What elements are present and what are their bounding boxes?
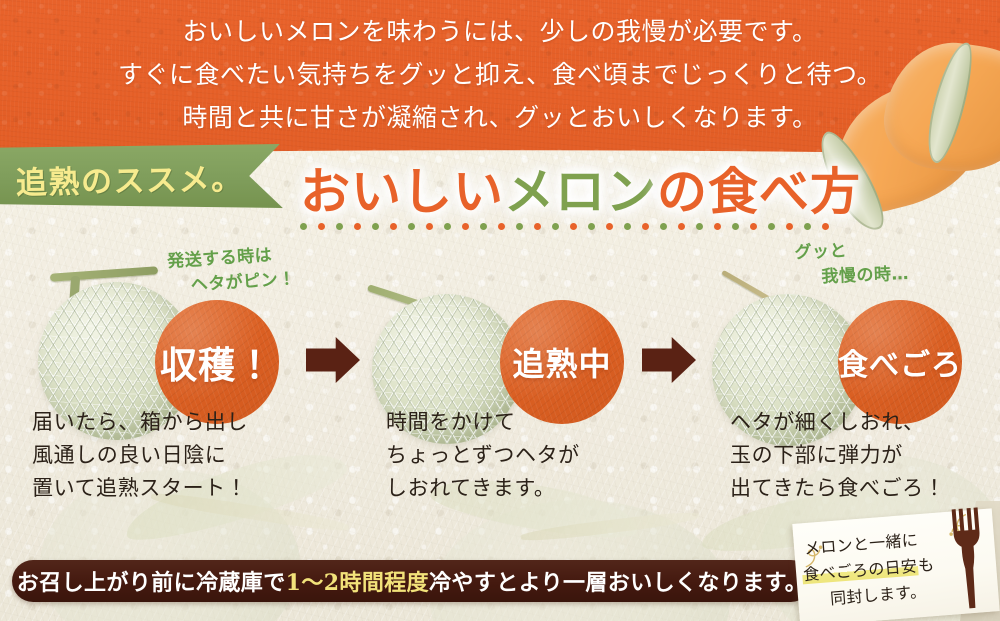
divider-dot	[768, 223, 775, 230]
step-2-caption-line3: しおれてきます。	[386, 472, 580, 505]
divider-dot	[714, 223, 721, 230]
divider-dot	[660, 223, 667, 230]
step-3-badge-label: 食べごろ	[838, 340, 962, 384]
divider-dot	[480, 223, 487, 230]
divider-dot	[318, 223, 325, 230]
divider-dot	[426, 223, 433, 230]
divider-dot	[462, 223, 469, 230]
step-2-caption-line2: ちょっとずつヘタが	[386, 439, 580, 472]
divider-dot	[372, 223, 379, 230]
step-1-melon-vine	[50, 266, 158, 282]
divider-dot	[624, 223, 631, 230]
divider-dot	[498, 223, 505, 230]
step-3-caption-line2: 玉の下部に弾力が	[730, 439, 945, 472]
step-1-badge-label: 収穫！	[160, 335, 274, 389]
title-part-2: メロン	[504, 162, 657, 221]
step-1-note-line1: 発送する時は	[167, 246, 273, 272]
divider-dot	[408, 223, 415, 230]
step-1-harvest: 発送する時は ヘタがピン！ 収穫！ 届いたら、箱から出し 風通しの良い日陰に 置…	[10, 238, 330, 518]
step-1-note-line2: ヘタがピン！	[168, 267, 296, 300]
divider-dot	[552, 223, 559, 230]
divider-dot	[390, 223, 397, 230]
step-3-caption-line1: ヘタが細くしおれ、	[730, 406, 945, 439]
header-line-1: おいしいメロンを味わうには、少しの我慢が必要です。	[0, 10, 1000, 53]
step-1-caption: 届いたら、箱から出し 風通しの良い日陰に 置いて追熟スタート！	[32, 406, 248, 505]
step-2-note-line2: 我慢の時…	[795, 262, 909, 291]
divider-dot	[786, 223, 793, 230]
divider-dot	[822, 223, 829, 230]
step-1-caption-line1: 届いたら、箱から出し	[32, 406, 248, 439]
divider-dot	[642, 223, 649, 230]
step-3-caption-line3: 出てきたら食べごろ！	[730, 472, 945, 505]
step-2-ripening: グッと 我慢の時… 追熟中 時間をかけて ちょっとずつヘタが しおれてきます。	[352, 238, 672, 518]
page-title: おいしいメロンの食べ方	[300, 152, 861, 224]
bottom-tip-after: 冷やすとより一層おいしくなります。	[429, 570, 807, 596]
title-part-1: おいしい	[300, 162, 504, 221]
steps-row: 発送する時は ヘタがピン！ 収穫！ 届いたら、箱から出し 風通しの良い日陰に 置…	[0, 238, 1000, 518]
ribbon-label: 追熟のススメ。	[16, 147, 297, 206]
bottom-tip-before: お召し上がり前に冷蔵庫で	[17, 570, 286, 596]
step-2-caption-line1: 時間をかけて	[386, 406, 580, 439]
divider-dot	[444, 223, 451, 230]
title-part-3: の食べ方	[657, 162, 861, 221]
melon-ripening-infographic: おいしいメロンを味わうには、少しの我慢が必要です。 すぐに食べたい気持ちをグッと…	[0, 0, 1000, 621]
step-1-caption-line2: 風通しの良い日陰に	[32, 439, 248, 472]
step-3-caption: ヘタが細くしおれ、 玉の下部に弾力が 出てきたら食べごろ！	[730, 406, 945, 505]
step-2-badge-label: 追熟中	[512, 339, 611, 385]
step-2-caption: 時間をかけて ちょっとずつヘタが しおれてきます。	[386, 406, 580, 505]
step-2-note-line1: グッと	[794, 241, 847, 263]
fork-icon	[943, 505, 993, 612]
divider-dot	[300, 223, 307, 230]
divider-dot	[732, 223, 739, 230]
header-line-2: すぐに食べたい気持ちをグッと抑え、食べ頃までじっくりと待つ。	[0, 53, 1000, 96]
step-1-caption-line3: 置いて追熟スタート！	[32, 472, 248, 505]
dotted-divider	[300, 222, 990, 230]
divider-dot	[570, 223, 577, 230]
divider-dot	[804, 223, 811, 230]
divider-dot	[354, 223, 361, 230]
step-2-note: グッと 我慢の時…	[794, 237, 909, 291]
divider-dot	[534, 223, 541, 230]
bottom-tip-highlight: 1〜2時間程度	[286, 570, 429, 596]
divider-dot	[516, 223, 523, 230]
divider-dot	[336, 223, 343, 230]
bottom-tip-text: お召し上がり前に冷蔵庫で1〜2時間程度冷やすとより一層おいしくなります。	[17, 565, 807, 597]
divider-dot	[750, 223, 757, 230]
step-1-note: 発送する時は ヘタがピン！	[167, 242, 297, 300]
guide-card-text: メロンと一緒に 食べごろの日安も 同封します。	[803, 524, 959, 614]
enclosed-guide-card: メロンと一緒に 食べごろの日安も 同封します。	[792, 508, 999, 621]
divider-dot	[588, 223, 595, 230]
bottom-tip-bar: お召し上がり前に冷蔵庫で1〜2時間程度冷やすとより一層おいしくなります。	[12, 560, 812, 602]
divider-dot	[696, 223, 703, 230]
header-text-block: おいしいメロンを味わうには、少しの我慢が必要です。 すぐに食べたい気持ちをグッと…	[0, 10, 1000, 139]
divider-dot	[606, 223, 613, 230]
header-line-3: 時間と共に甘さが凝縮され、グッとおいしくなります。	[0, 96, 1000, 139]
divider-dot	[678, 223, 685, 230]
guide-card-line2-rest: も	[917, 555, 935, 575]
